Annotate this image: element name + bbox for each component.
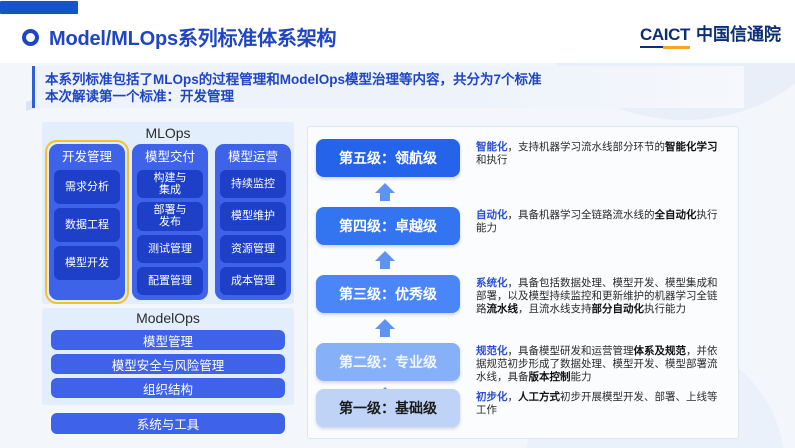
capability-chip[interactable]: 需求分析 (54, 170, 120, 204)
maturity-level-row-2: 第二级：专业级 规范化，具备模型研发和运营管理体系及规范，并依据规范初步形成了数… (316, 343, 732, 384)
maturity-level-row-4: 第四级：卓越级 自动化，具备机器学习全链路流水线的全自动化执行能力 (316, 207, 732, 245)
maturity-level-row-1: 第一级：基础级 初步化，人工方式初步开展模型开发、部署、上线等工作 (316, 389, 732, 427)
ring-bullet-icon (22, 29, 39, 46)
column-header-operations: 模型运营 (228, 148, 278, 166)
maturity-level-box-1[interactable]: 第一级：基础级 (316, 389, 460, 427)
modelops-item[interactable]: 模型安全与风险管理 (51, 354, 285, 374)
maturity-level-row-5: 第五级：领航级 智能化，支持机器学习流水线部分环节的智能化学习和执行 (316, 139, 732, 177)
mlops-column-delivery[interactable]: 模型交付 构建与 集成 部署与 发布 测试管理 配置管理 (132, 144, 208, 300)
maturity-level-desc-2: 规范化，具备模型研发和运营管理体系及规范，并依据规范初步形成了数据处理、模型开发… (476, 343, 721, 384)
maturity-level-desc-4: 自动化，具备机器学习全链路流水线的全自动化执行能力 (476, 207, 721, 235)
top-white-band (80, 0, 795, 15)
modelops-container: ModelOps 模型管理 模型安全与风险管理 组织结构 (42, 308, 294, 405)
architecture-panel: MLOps 开发管理 需求分析 数据工程 模型开发 模型交付 构建与 集成 部署… (42, 122, 294, 440)
modelops-item[interactable]: 模型管理 (51, 330, 285, 350)
subtitle-line-2: 本次解读第一个标准：开发管理 (45, 88, 744, 105)
subtitle-strip: 本系列标准包括了MLOps的过程管理和ModelOps模型治理等内容，共分为7个… (32, 66, 744, 108)
subtitle-line-1: 本系列标准包括了MLOps的过程管理和ModelOps模型治理等内容，共分为7个… (45, 71, 744, 88)
maturity-level-row-3: 第三级：优秀级 系统化，具备包括数据处理、模型开发、模型集成和部署，以及模型持续… (316, 275, 732, 316)
logo-en-text: CAICT (640, 25, 690, 48)
modelops-title: ModelOps (42, 310, 294, 326)
capability-chip[interactable]: 成本管理 (220, 267, 286, 295)
mlops-column-development[interactable]: 开发管理 需求分析 数据工程 模型开发 (49, 144, 125, 300)
maturity-level-desc-5: 智能化，支持机器学习流水线部分环节的智能化学习和执行 (476, 139, 721, 167)
logo-cn-text: 中国信通院 (696, 20, 781, 45)
maturity-level-box-3[interactable]: 第三级：优秀级 (316, 275, 460, 313)
capability-chip[interactable]: 数据工程 (54, 208, 120, 242)
maturity-level-box-5[interactable]: 第五级：领航级 (316, 139, 460, 177)
slide-canvas: Model/MLOps系列标准体系架构 CAICT 中国信通院 本系列标准包括了… (0, 0, 795, 448)
systems-and-tools-bar[interactable]: 系统与工具 (51, 413, 285, 434)
column-header-development: 开发管理 (62, 148, 112, 166)
maturity-level-box-4[interactable]: 第四级：卓越级 (316, 207, 460, 245)
modelops-item[interactable]: 组织结构 (51, 378, 285, 398)
capability-chip[interactable]: 持续监控 (220, 170, 286, 198)
capability-chip[interactable]: 配置管理 (137, 267, 203, 295)
maturity-level-desc-3: 系统化，具备包括数据处理、模型开发、模型集成和部署，以及模型持续监控和更新维护的… (476, 275, 721, 316)
capability-chip[interactable]: 部署与 发布 (137, 202, 203, 230)
mlops-title: MLOps (42, 125, 294, 141)
top-blue-accent-bar (0, 1, 78, 14)
caict-logo: CAICT 中国信通院 (640, 20, 781, 48)
page-title: Model/MLOps系列标准体系架构 (49, 22, 336, 51)
page-title-row: Model/MLOps系列标准体系架构 (22, 22, 336, 51)
mlops-column-operations[interactable]: 模型运营 持续监控 模型维护 资源管理 成本管理 (215, 144, 291, 300)
capability-chip[interactable]: 测试管理 (137, 235, 203, 263)
capability-chip[interactable]: 模型开发 (54, 246, 120, 280)
capability-chip[interactable]: 资源管理 (220, 235, 286, 263)
column-header-delivery: 模型交付 (145, 148, 195, 166)
capability-chip[interactable]: 构建与 集成 (137, 170, 203, 198)
maturity-level-box-2[interactable]: 第二级：专业级 (316, 343, 460, 381)
maturity-level-desc-1: 初步化，人工方式初步开展模型开发、部署、上线等工作 (476, 389, 721, 417)
capability-chip[interactable]: 模型维护 (220, 202, 286, 230)
maturity-panel: 第五级：领航级 智能化，支持机器学习流水线部分环节的智能化学习和执行 第四级：卓… (307, 126, 739, 439)
mlops-columns: 开发管理 需求分析 数据工程 模型开发 模型交付 构建与 集成 部署与 发布 测… (49, 144, 291, 300)
